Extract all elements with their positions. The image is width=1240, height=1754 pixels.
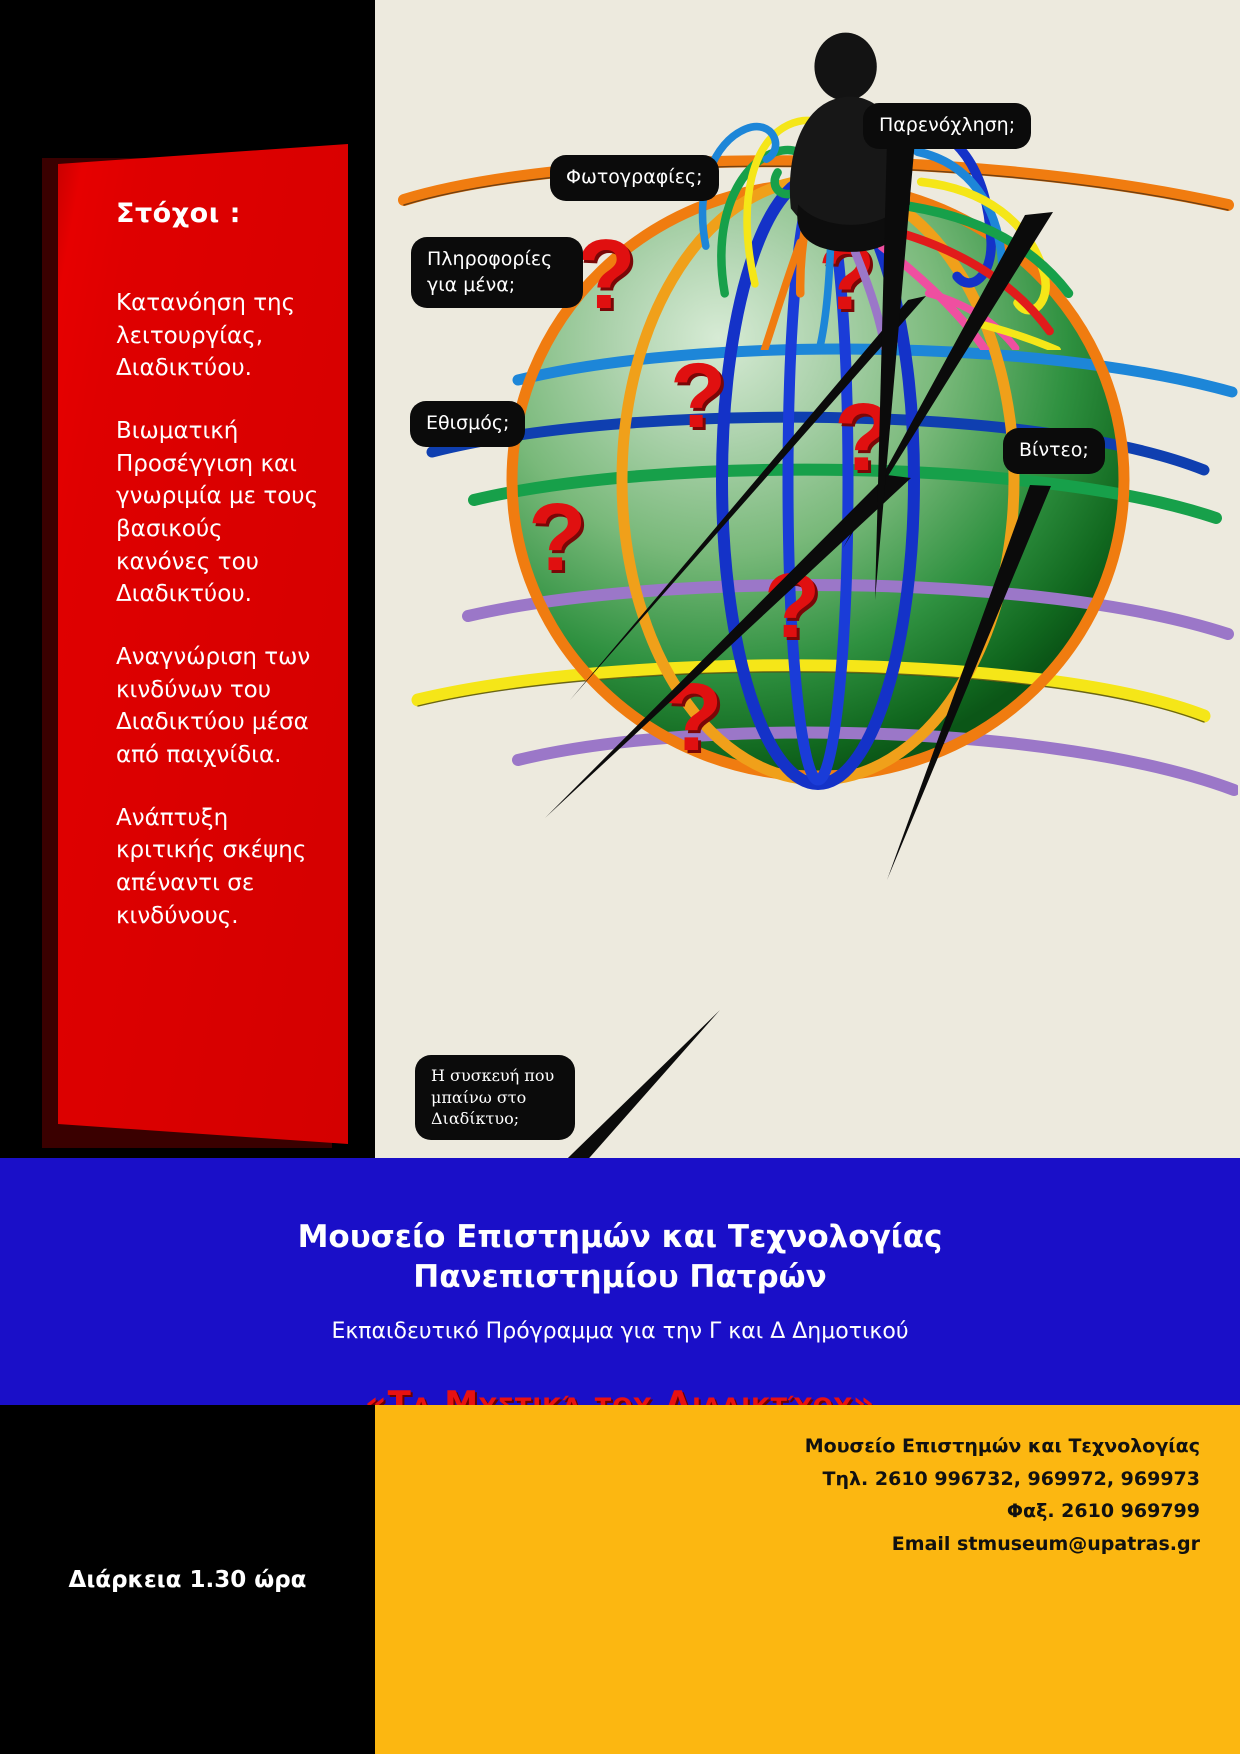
bubble-device[interactable]: Η συσκευή που μπαίνω στο Διαδίκτυο;	[415, 1055, 575, 1140]
bubble-harassment[interactable]: Παρενόχληση;	[863, 103, 1031, 149]
organization-line2: Πανεπιστημίου Πατρών	[0, 1258, 1240, 1298]
pointer-video	[887, 485, 1051, 880]
objectives-title: Στόχοι :	[116, 198, 320, 229]
poster: ? ? ? ? ? ? ?	[0, 0, 1240, 1754]
bubble-video[interactable]: Βίντεο;	[1003, 428, 1105, 474]
objectives-panel: Στόχοι : Κατανόηση της λειτουργίας, Διαδ…	[58, 144, 348, 1144]
bubble-addiction[interactable]: Εθισμός;	[410, 401, 525, 447]
contact-fax: Φαξ. 2610 969799	[375, 1495, 1200, 1528]
contact-details: Μουσείο Επιστημών και Τεχνολογίας Τηλ. 2…	[375, 1405, 1240, 1561]
objective-item: Κατανόηση της λειτουργίας, Διαδικτύου.	[116, 287, 320, 385]
bubble-info-about-me[interactable]: Πληροφορίες για μένα;	[411, 237, 583, 308]
pointer-addiction	[545, 475, 911, 818]
duration-text: Διάρκεια 1.30 ώρα	[0, 1405, 375, 1754]
bubble-photos[interactable]: Φωτογραφίες;	[550, 155, 719, 201]
contact-panel: Μουσείο Επιστημών και Τεχνολογίας Τηλ. 2…	[375, 1405, 1240, 1754]
illustration-stage: ? ? ? ? ? ? ?	[375, 0, 1240, 1158]
contact-phone: Τηλ. 2610 996732, 969972, 969973	[375, 1463, 1200, 1496]
contact-email[interactable]: Email stmuseum@upatras.gr	[375, 1528, 1200, 1561]
organization-name: Μουσείο Επιστημών και Τεχνολογίας Πανεπι…	[0, 1158, 1240, 1297]
pointer-harassment	[875, 140, 915, 600]
objective-item: Αναγνώριση των κινδύνων του Διαδικτύου μ…	[116, 641, 320, 772]
organization-line1: Μουσείο Επιστημών και Τεχνολογίας	[0, 1218, 1240, 1258]
contact-name: Μουσείο Επιστημών και Τεχνολογίας	[375, 1430, 1200, 1463]
bubble-pointers	[375, 0, 1240, 1158]
objective-item: Βιωματική Προσέγγιση και γνωριμία με του…	[116, 415, 320, 611]
objective-item: Ανάπτυξη κριτικής σκέψης απέναντι σε κιν…	[116, 802, 320, 933]
program-subtitle: Εκπαιδευτικό Πρόγραμμα για την Γ και Δ Δ…	[0, 1297, 1240, 1344]
